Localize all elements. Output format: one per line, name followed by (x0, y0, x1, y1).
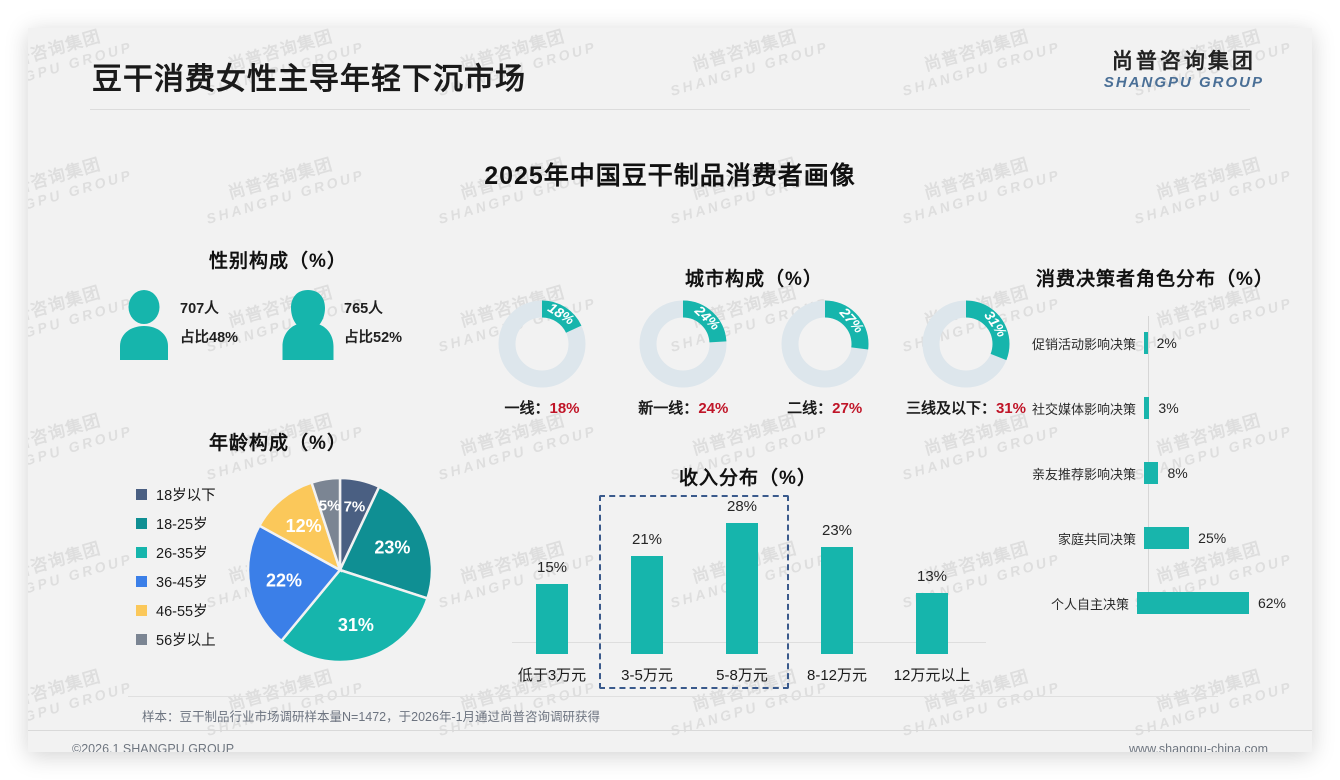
legend-swatch-icon (136, 634, 147, 645)
income-bar-label: 低于3万元 (506, 664, 598, 685)
income-bar-value: 15% (537, 559, 567, 576)
city-percent-value: 24% (698, 400, 728, 417)
gender-section-title: 性别构成（%） (108, 246, 448, 273)
legend-swatch-icon (136, 605, 147, 616)
age-legend-label: 46-55岁 (156, 600, 208, 621)
gender-male-group: 707人 占比48% (116, 288, 238, 360)
decision-bar-row[interactable]: 亲友推荐影响决策8% (1024, 460, 1286, 486)
age-legend-label: 18-25岁 (156, 513, 208, 534)
city-donut-caption: 新一线：24% (617, 397, 749, 418)
age-legend-item[interactable]: 36-45岁 (136, 567, 216, 596)
city-donut-chart: 18% (496, 298, 588, 390)
decision-bar (1144, 397, 1149, 419)
male-silhouette-icon (116, 288, 172, 360)
logo-english-text: SHANGPU GROUP (1104, 74, 1264, 92)
pie-slice-label: 12% (286, 516, 322, 536)
income-bar-value: 13% (917, 568, 947, 585)
city-donut-chart: 27% (779, 298, 871, 390)
income-bar-column[interactable]: 28%5-8万元 (696, 514, 788, 685)
income-section-title: 收入分布（%） (498, 463, 998, 490)
decision-bar (1144, 332, 1148, 354)
decision-bar-value: 25% (1198, 530, 1226, 546)
decision-bar-label: 社交媒体影响决策 (1024, 399, 1144, 418)
decision-bar-row[interactable]: 家庭共同决策25% (1024, 525, 1286, 551)
income-distribution-section: 收入分布（%） 15%低于3万元21%3-5万元28%5-8万元23%8-12万… (498, 463, 998, 688)
pie-slice-label: 22% (266, 571, 302, 591)
footer-divider (28, 730, 1312, 731)
age-legend-item[interactable]: 46-55岁 (136, 596, 216, 625)
legend-swatch-icon (136, 518, 147, 529)
age-legend: 18岁以下18-25岁26-35岁36-45岁46-55岁56岁以上 (136, 480, 216, 654)
income-bar-label: 5-8万元 (696, 664, 788, 685)
income-bar (821, 547, 853, 654)
city-donut-caption: 三线及以下：31% (900, 397, 1032, 418)
income-bar-label: 12万元以上 (886, 664, 978, 685)
age-legend-item[interactable]: 26-35岁 (136, 538, 216, 567)
decision-bar-label: 促销活动影响决策 (1024, 334, 1144, 353)
city-donut-caption: 二线：27% (759, 397, 891, 418)
decision-bar-value: 62% (1258, 595, 1286, 611)
income-bar-wrapper: 15% (506, 514, 598, 654)
city-donut-cell[interactable]: 31%三线及以下：31% (900, 298, 1032, 418)
city-donut-cell[interactable]: 24%新一线：24% (617, 298, 749, 418)
male-share: 占比48% (180, 324, 238, 353)
sample-note: 样本：豆干制品行业市场调研样本量N=1472，于2026年-1月通过尚普咨询调研… (142, 706, 600, 725)
income-bar (916, 593, 948, 654)
pie-slice-label: 7% (344, 498, 366, 515)
female-count: 765人 (344, 295, 402, 324)
website-link[interactable]: www.shangpu-china.com (1129, 742, 1268, 752)
note-divider (128, 696, 1218, 697)
decision-role-section: 消费决策者角色分布（%） 促销活动影响决策2%社交媒体影响决策3%亲友推荐影响决… (1024, 264, 1286, 624)
decision-bar-label: 亲友推荐影响决策 (1024, 464, 1144, 483)
age-composition-section: 年龄构成（%） 18岁以下18-25岁26-35岁36-45岁46-55岁56岁… (98, 428, 458, 683)
income-bar-column[interactable]: 13%12万元以上 (886, 514, 978, 685)
city-donut-chart: 31% (920, 298, 1012, 390)
legend-swatch-icon (136, 576, 147, 587)
female-share: 占比52% (344, 324, 402, 353)
income-bar-wrapper: 21% (601, 514, 693, 654)
income-bar (536, 584, 568, 654)
decision-section-title: 消费决策者角色分布（%） (1016, 264, 1294, 291)
income-bar (631, 556, 663, 654)
income-bar-column[interactable]: 21%3-5万元 (601, 514, 693, 685)
income-bar-chart: 15%低于3万元21%3-5万元28%5-8万元23%8-12万元13%12万元… (498, 503, 998, 685)
header-divider (90, 109, 1250, 110)
brand-logo: 尚普咨询集团 SHANGPU GROUP (1104, 50, 1264, 92)
city-percent-value: 18% (549, 400, 579, 417)
gender-female-group: 765人 占比52% (280, 288, 402, 360)
legend-swatch-icon (136, 489, 147, 500)
decision-bar-value: 3% (1158, 400, 1178, 416)
income-bar (726, 523, 758, 654)
slide-card: 尚普咨询集团SHANGPU GROUP尚普咨询集团SHANGPU GROUP尚普… (28, 28, 1312, 752)
decision-bar (1137, 592, 1249, 614)
city-donut-cell[interactable]: 27%二线：27% (759, 298, 891, 418)
decision-bar (1144, 527, 1189, 549)
decision-bar-row[interactable]: 个人自主决策62% (1024, 590, 1286, 616)
city-donut-row: 18%一线：18%24%新一线：24%27%二线：27%31%三线及以下：31% (476, 298, 1032, 418)
copyright-text: ©2026.1 SHANGPU GROUP (72, 742, 234, 752)
decision-bar-value: 2% (1157, 335, 1177, 351)
pie-slice-label: 5% (319, 498, 341, 515)
age-legend-item[interactable]: 18岁以下 (136, 480, 216, 509)
city-donut-chart: 24% (637, 298, 729, 390)
income-bar-label: 8-12万元 (791, 664, 883, 685)
income-bar-value: 28% (727, 498, 757, 515)
gender-male-stats: 707人 占比48% (180, 295, 238, 353)
decision-bar-row[interactable]: 促销活动影响决策2% (1024, 330, 1286, 356)
income-bar-value: 23% (822, 522, 852, 539)
age-legend-item[interactable]: 56岁以上 (136, 625, 216, 654)
male-count: 707人 (180, 295, 238, 324)
age-legend-label: 26-35岁 (156, 542, 208, 563)
decision-bar-label: 家庭共同决策 (1024, 529, 1144, 548)
age-legend-label: 36-45岁 (156, 571, 208, 592)
female-silhouette-icon (280, 288, 336, 360)
age-legend-label: 18岁以下 (156, 484, 216, 505)
city-percent-value: 31% (996, 400, 1026, 417)
age-legend-label: 56岁以上 (156, 629, 216, 650)
logo-chinese-text: 尚普咨询集团 (1104, 50, 1264, 74)
slide-header: 豆干消费女性主导年轻下沉市场 尚普咨询集团 SHANGPU GROUP (28, 28, 1312, 106)
city-donut-caption: 一线：18% (476, 397, 608, 418)
income-bar-column[interactable]: 15%低于3万元 (506, 514, 598, 685)
main-title: 2025年中国豆干制品消费者画像 (28, 156, 1312, 192)
age-section-title: 年龄构成（%） (98, 428, 458, 455)
income-bar-label: 3-5万元 (601, 664, 693, 685)
city-section-title: 城市构成（%） (476, 264, 1032, 291)
pie-slice-label: 31% (338, 615, 374, 635)
city-donut-cell[interactable]: 18%一线：18% (476, 298, 608, 418)
decision-bar-row[interactable]: 社交媒体影响决策3% (1024, 395, 1286, 421)
gender-female-stats: 765人 占比52% (344, 295, 402, 353)
legend-swatch-icon (136, 547, 147, 558)
gender-composition-section: 性别构成（%） 707人 占比48% 765人 占比52% (108, 246, 448, 386)
decision-bar (1144, 462, 1158, 484)
income-bar-wrapper: 13% (886, 514, 978, 654)
decision-bar-label: 个人自主决策 (1024, 594, 1137, 613)
income-bar-wrapper: 28% (696, 514, 788, 654)
page-title: 豆干消费女性主导年轻下沉市场 (92, 54, 526, 98)
age-pie-chart: 7%23%31%22%12%5% (240, 470, 440, 670)
income-bar-wrapper: 23% (791, 514, 883, 654)
income-bar-value: 21% (632, 531, 662, 548)
city-percent-value: 27% (832, 400, 862, 417)
city-composition-section: 城市构成（%） 18%一线：18%24%新一线：24%27%二线：27%31%三… (476, 264, 1032, 409)
decision-bar-value: 8% (1167, 465, 1187, 481)
pie-slice-label: 23% (374, 537, 410, 557)
age-legend-item[interactable]: 18-25岁 (136, 509, 216, 538)
income-bar-column[interactable]: 23%8-12万元 (791, 514, 883, 685)
